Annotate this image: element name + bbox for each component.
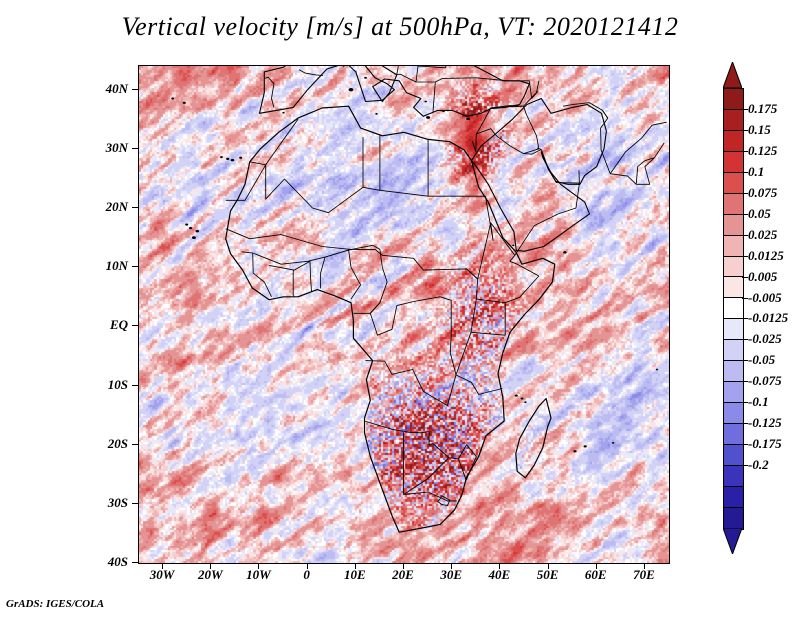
island-marker	[349, 88, 354, 91]
island-marker	[226, 158, 229, 160]
island-marker	[192, 236, 196, 239]
coastline-path	[265, 77, 274, 107]
colorbar-top-arrow	[723, 62, 742, 88]
colorbar-tick-label: 0.075	[748, 185, 777, 201]
coastline-path	[636, 158, 654, 185]
coastline-path	[456, 332, 505, 375]
latitude-tick	[132, 325, 138, 326]
colorbar-tick-label: 0.175	[748, 101, 777, 117]
island-marker	[364, 77, 367, 79]
island-marker	[524, 401, 526, 403]
island-marker	[512, 244, 514, 246]
colorbar-band	[723, 110, 744, 131]
coastline-path	[510, 255, 539, 276]
coastline-path	[516, 399, 551, 478]
coastline-path	[310, 261, 312, 292]
latitude-tick	[132, 385, 138, 386]
colorbar-band	[723, 257, 744, 278]
coastline-path	[404, 458, 449, 495]
colorbar-band	[723, 319, 744, 340]
latitude-tick	[132, 444, 138, 445]
island-marker	[521, 398, 524, 400]
latitude-tick-label: EQ	[110, 317, 128, 333]
island-marker	[515, 395, 518, 397]
page-title: Vertical velocity [m/s] at 500hPa, VT: 2…	[0, 12, 800, 42]
island-marker	[183, 102, 186, 104]
coastline-path	[467, 269, 478, 332]
grads-plot-window: Vertical velocity [m/s] at 500hPa, VT: 2…	[0, 0, 800, 618]
island-marker	[563, 251, 567, 254]
coastline-path	[476, 276, 539, 303]
longitude-tick-label: 40E	[489, 567, 511, 583]
coastline-path	[374, 66, 400, 74]
colorbar-band	[723, 382, 744, 403]
colorbar-tick-label: -0.2	[748, 457, 769, 473]
longitude-tick-label: 70E	[633, 567, 655, 583]
colorbar-tick-label: 0.125	[748, 143, 777, 159]
island-marker	[375, 113, 378, 115]
latitude-tick	[132, 89, 138, 90]
coastline-path	[253, 249, 351, 264]
colorbar-band	[723, 194, 744, 215]
longitude-tick-label: 30W	[150, 567, 175, 583]
colorbar-band	[723, 340, 744, 361]
colorbar-band	[723, 88, 744, 110]
latitude-tick-label: 20S	[108, 436, 128, 452]
island-marker	[442, 110, 445, 112]
island-marker	[220, 156, 223, 158]
island-marker	[656, 369, 658, 371]
coastline-path	[293, 270, 294, 296]
latitude-tick-label: 10S	[108, 377, 128, 393]
coastline-path	[397, 297, 451, 306]
island-marker	[424, 101, 427, 103]
longitude-tick-label: 50E	[537, 567, 559, 583]
latitude-axis: 40N30N20N10NEQ10S20S30S40S	[0, 65, 138, 562]
island-marker	[573, 450, 576, 452]
colorbar-band	[723, 277, 744, 298]
latitude-tick	[132, 266, 138, 267]
coastline-path	[433, 78, 520, 114]
coastline-border-overlay	[139, 66, 669, 563]
colorbar-band	[723, 173, 744, 194]
colorbar-band	[723, 152, 744, 173]
colorbar-tick-label: 0.005	[748, 269, 777, 285]
coastline-path	[524, 106, 539, 149]
coastline-path	[353, 303, 380, 314]
colorbar-band	[723, 403, 744, 424]
map-plot-area	[138, 65, 670, 564]
longitude-tick-label: 10E	[344, 567, 366, 583]
island-marker	[426, 116, 430, 119]
island-marker	[189, 227, 192, 229]
coastline-path	[250, 119, 298, 165]
island-marker	[612, 442, 614, 444]
coastline-path	[349, 250, 361, 299]
colorbar-tick-label: 0.025	[748, 227, 777, 243]
colorbar-band	[723, 298, 744, 319]
longitude-tick-label: 60E	[585, 567, 607, 583]
colorbar-tick-label: -0.005	[748, 290, 782, 306]
colorbar-band	[723, 131, 744, 152]
coastline-path	[366, 300, 457, 405]
longitude-tick-label: 30E	[440, 567, 462, 583]
colorbar-band	[723, 236, 744, 257]
coastline-path	[321, 257, 325, 288]
latitude-tick-label: 40S	[108, 554, 128, 570]
latitude-tick-label: 30N	[106, 140, 128, 156]
colorbar-band	[723, 445, 744, 466]
colorbar-tick-label: -0.175	[748, 436, 782, 452]
coastline-path	[429, 432, 466, 481]
coastline-path	[226, 229, 478, 279]
coastline-path	[365, 421, 430, 433]
colorbar-band	[723, 508, 744, 530]
island-marker	[196, 230, 200, 233]
colorbar-tick-label: -0.0125	[748, 310, 788, 326]
island-marker	[282, 112, 284, 114]
island-marker	[584, 445, 587, 447]
colorbar-band	[723, 487, 744, 508]
coastline-path	[404, 432, 405, 494]
coastline-path	[260, 66, 544, 116]
latitude-tick	[132, 207, 138, 208]
longitude-tick-label: 20E	[392, 567, 414, 583]
latitude-tick-label: 10N	[106, 258, 128, 274]
colorbar-tick-label: -0.05	[748, 352, 775, 368]
latitude-tick	[132, 503, 138, 504]
colorbar-bottom-arrow	[723, 528, 742, 554]
island-marker	[466, 117, 470, 120]
colorbar-tick-label: 0.15	[748, 122, 771, 138]
colorbar-bands	[723, 88, 742, 528]
coastline-path	[610, 143, 664, 184]
colorbar-band	[723, 424, 744, 445]
longitude-axis: 30W20W10W010E20E30E40E50E60E70E	[138, 563, 668, 593]
coastline-path	[472, 122, 483, 152]
coastline-path	[416, 66, 447, 82]
coastline-path	[269, 261, 310, 270]
colorbar-band	[723, 361, 744, 382]
coastline-path	[370, 306, 397, 336]
island-marker	[239, 157, 242, 159]
attribution-label: GrADS: IGES/COLA	[6, 598, 104, 610]
colorbar-tick-label: 0.1	[748, 164, 764, 180]
coastline-path	[456, 375, 502, 395]
colorbar: 0.1750.150.1250.10.0750.050.0250.01250.0…	[715, 60, 800, 560]
colorbar-tick-label: -0.1	[748, 394, 769, 410]
island-marker	[185, 224, 188, 226]
longitude-tick-label: 0	[303, 567, 310, 583]
colorbar-tick-label: 0.05	[748, 206, 771, 222]
coastline-path	[537, 81, 539, 93]
coastline-path	[524, 149, 542, 154]
colorbar-band	[723, 466, 744, 487]
island-marker	[231, 159, 235, 162]
latitude-tick	[132, 148, 138, 149]
longitude-tick-label: 20W	[198, 567, 223, 583]
coastline-path	[476, 129, 523, 154]
latitude-tick-label: 30S	[108, 495, 128, 511]
coastline-path	[226, 139, 428, 212]
longitude-tick-label: 10W	[246, 567, 271, 583]
colorbar-tick-label: -0.125	[748, 415, 782, 431]
latitude-tick-label: 20N	[106, 199, 128, 215]
colorbar-tick-label: -0.075	[748, 373, 782, 389]
island-marker	[171, 98, 174, 100]
colorbar-tick-label: -0.025	[748, 331, 782, 347]
colorbar-tick-label: 0.0125	[748, 248, 784, 264]
latitude-tick-label: 40N	[106, 81, 128, 97]
coastline-path	[299, 70, 323, 76]
colorbar-band	[723, 215, 744, 236]
